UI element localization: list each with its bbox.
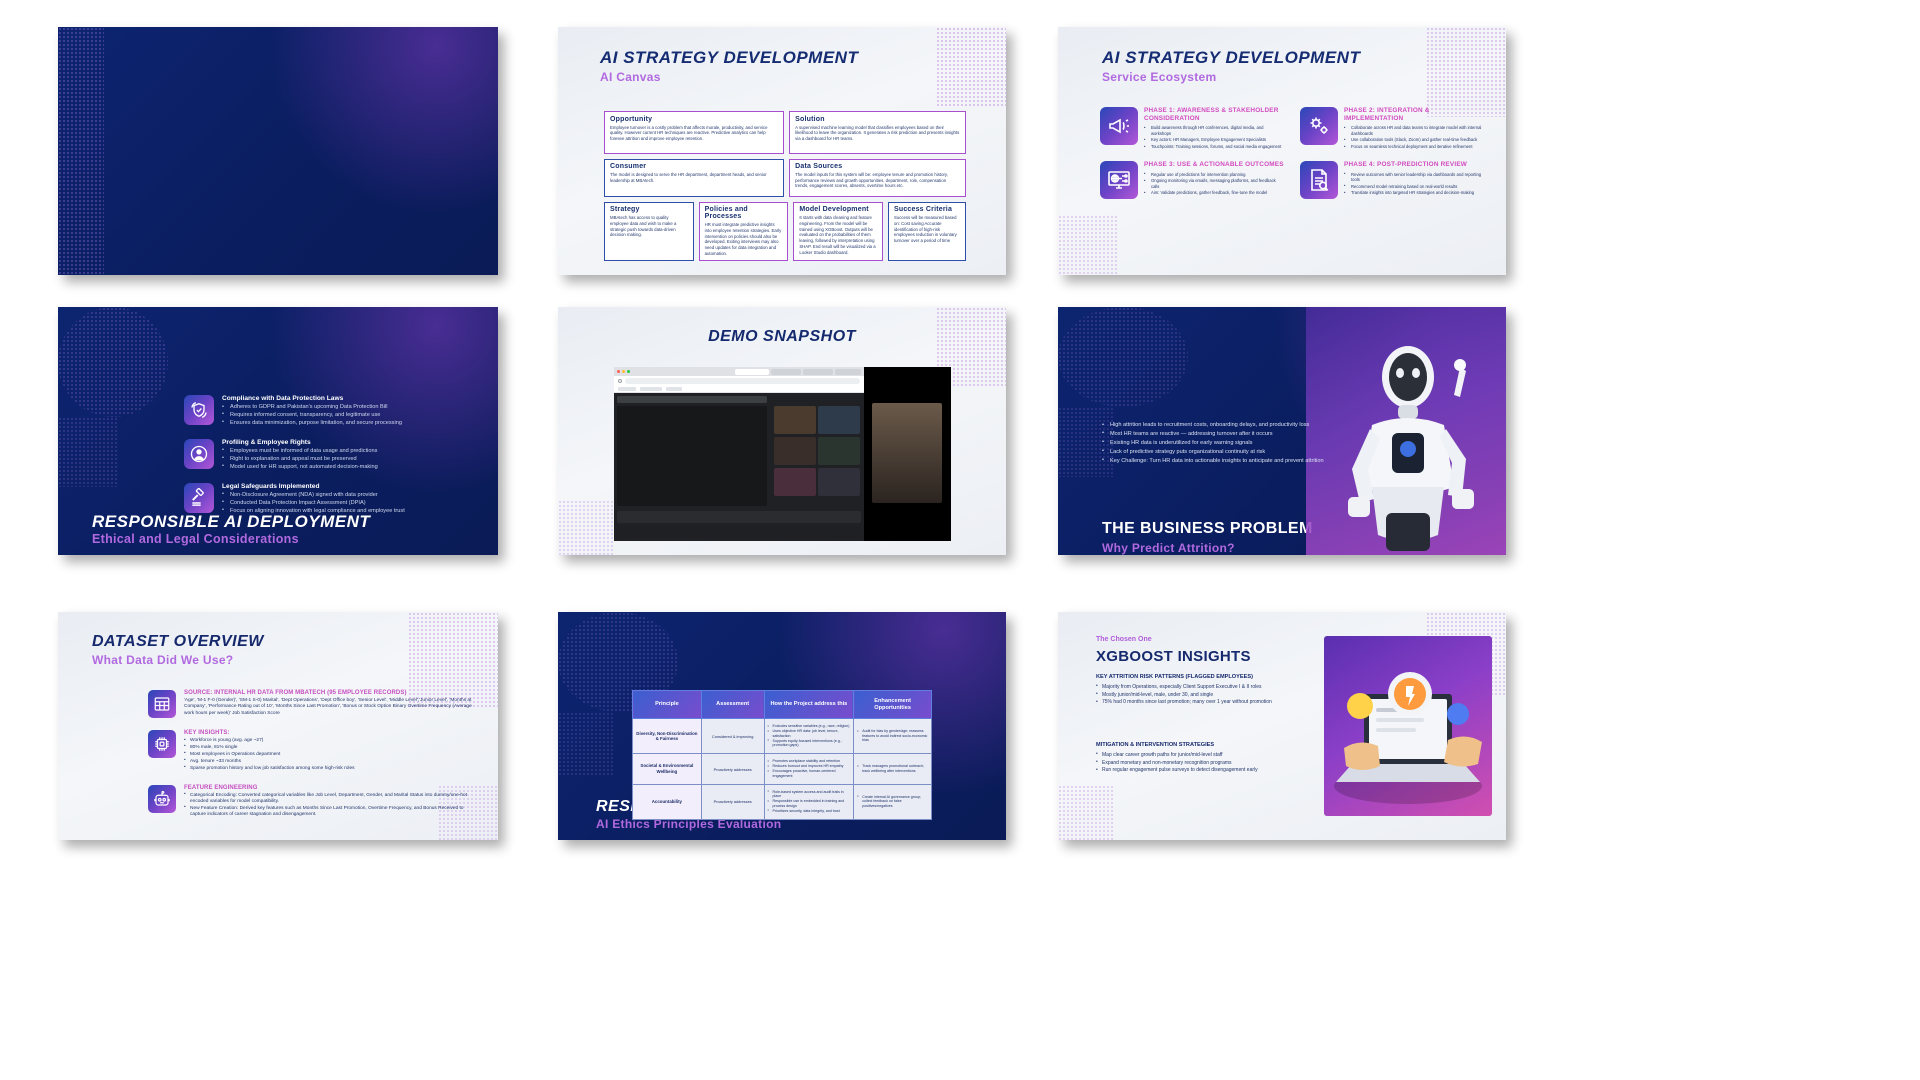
slide3-header: AI STRATEGY DEVELOPMENT Service Ecosyste… (1058, 27, 1506, 84)
item-bullets: Non-Disclosure Agreement (NDA) signed wi… (222, 492, 405, 515)
slide-business-problem[interactable]: THE BUSINESS PROBLEM Why Predict Attriti… (1058, 307, 1506, 555)
box-text: Employee turnover is a costly problem th… (610, 125, 778, 142)
megaphone-icon (1100, 107, 1138, 145)
bullet: Key actors: HR Managers, Employee Engage… (1144, 137, 1284, 142)
cell-assessment: Considered & improving (701, 719, 764, 754)
bullet: Build awareness through HR conferences, … (1144, 125, 1284, 136)
robot-face-icon (148, 785, 176, 813)
bullet: Aim: Validate predictions, gather feedba… (1144, 190, 1284, 195)
phase-3: PHASE 3: USE & ACTIONABLE OUTCOMES Regul… (1100, 161, 1284, 199)
item-source: SOURCE: INTERNAL HR DATA FROM MBATECH (9… (148, 690, 480, 718)
gavel-icon (184, 483, 214, 513)
bullet: Recommend model retraining based on real… (1344, 184, 1484, 189)
item-bullets: Categorical Encoding: Converted categori… (184, 793, 480, 818)
bullet: Non-Disclosure Agreement (NDA) signed wi… (222, 492, 405, 499)
demo-screenshot (614, 367, 951, 541)
bullet: Excludes sensitive variables (e.g., race… (768, 724, 851, 728)
bullet: Responsible use is embedded in training … (768, 799, 851, 808)
item-bullets: Employees must be informed of data usage… (222, 448, 378, 471)
canvas-box-consumer: Consumer The model is designed to serve … (604, 159, 784, 197)
network-monitor-icon (1100, 161, 1138, 199)
phase-1: PHASE 1: AWARENESS & STAKEHOLDER CONSIDE… (1100, 107, 1284, 151)
canvas-box-success-criteria: Success Criteria Success will be measure… (888, 202, 966, 261)
item-heading: FEATURE ENGINEERING (184, 785, 480, 791)
bullet: Adheres to GDPR and Pakistan's upcoming … (222, 404, 402, 411)
item-profiling: Profiling & Employee Rights Employees mu… (184, 439, 472, 472)
bullet: Most employees in Operations department (184, 752, 355, 758)
table-row: Accountability Proactively addresses Rol… (633, 784, 932, 819)
bullet: Run regular engagement pulse surveys to … (1096, 767, 1314, 773)
bullet: Expand monetary and non-monetary recogni… (1096, 760, 1314, 766)
table-row: Societal & Environmental Wellbeing Proac… (633, 754, 932, 784)
page-subtitle: Service Ecosystem (1102, 70, 1506, 84)
canvas-box-opportunity: Opportunity Employee turnover is a costl… (604, 111, 784, 154)
cell-address: Excludes sensitive variables (e.g., race… (764, 719, 854, 754)
box-title: Success Criteria (894, 206, 960, 213)
slide-responsible-ai-legal[interactable]: RESPONSIBLE AI DEPLOYMENT Ethical and Le… (58, 307, 498, 555)
table-header-row: Principle Assessment How the Project add… (633, 691, 932, 719)
bullet: Reduces burnout and improves HR empathy (768, 764, 851, 768)
slide-ethics-principles[interactable]: RESPONSIBLE AI DEPLOYMENT AI Ethics Prin… (558, 612, 1006, 840)
section-bullets: Majority from Operations, especially Cli… (1096, 684, 1314, 706)
bullet: Supports equity-focused interventions (e… (768, 739, 851, 748)
bullet: New Feature Creation: Derived key featur… (184, 806, 480, 818)
section-mitigation: MITIGATION & INTERVENTION STRATEGIES Map… (1096, 742, 1314, 775)
item-text: 'Age', 'M-1 F-0 (Gender)', 'SM-1 S-0) Ma… (184, 698, 480, 717)
cell-principle: Societal & Environmental Wellbeing (633, 754, 702, 784)
box-text: HR must integrate predictive insights in… (705, 222, 783, 256)
bullet: 80% male, 81% single (184, 745, 355, 751)
bullet: Uses objective HR data: job level, tenur… (768, 729, 851, 738)
cell-enhancement: Create internal AI governance group; col… (854, 784, 932, 819)
bullet: Regular use of predictions for intervent… (1144, 172, 1284, 177)
bullet: Right to explanation and appeal must be … (222, 456, 378, 463)
ethics-principles-table: Principle Assessment How the Project add… (632, 690, 932, 820)
chip-insights-icon (148, 730, 176, 758)
box-text: Success will be measured based on: Cost … (894, 215, 960, 244)
bullet: Touchpoints: Training sessions, forums, … (1144, 144, 1284, 149)
slide5-header: DEMO SNAPSHOT (558, 307, 1006, 345)
item-heading: Compliance with Data Protection Laws (222, 395, 402, 402)
page-title: AI STRATEGY DEVELOPMENT (1102, 49, 1506, 66)
bullet: Ensures data minimization, purpose limit… (222, 420, 402, 427)
bullet: Conducted Data Protection Impact Assessm… (222, 500, 405, 507)
bullet: Sparse promotion history and low job sat… (184, 766, 355, 772)
slide-demo-snapshot[interactable]: DEMO SNAPSHOT (558, 307, 1006, 555)
legal-items: Compliance with Data Protection Laws Adh… (184, 395, 472, 516)
box-title: Opportunity (610, 116, 778, 123)
canvas-box-policies: Policies and Processes HR must integrate… (699, 202, 789, 261)
box-text: It starts with data cleaning and feature… (799, 215, 877, 255)
user-profile-icon (184, 439, 214, 469)
phase-heading: PHASE 2: INTEGRATION & IMPLEMENTATION (1344, 107, 1484, 122)
bullet: Audit for bias by gender/age; reassess f… (857, 729, 928, 742)
page-subtitle: Ethical and Legal Considerations (92, 532, 498, 546)
item-heading: SOURCE: INTERNAL HR DATA FROM MBATECH (9… (184, 690, 480, 696)
slide2-header: AI STRATEGY DEVELOPMENT AI Canvas (558, 27, 1006, 84)
cell-address: Role-based system access and audit trail… (764, 784, 854, 819)
slide-dataset-overview[interactable]: DATASET OVERVIEW What Data Did We Use? S… (58, 612, 498, 840)
box-text: The model is designed to serve the HR de… (610, 172, 778, 183)
section-heading: KEY ATTRITION RISK PATTERNS (FLAGGED EMP… (1096, 674, 1314, 681)
bullet: Role-based system access and audit trail… (768, 790, 851, 799)
bullet: Employees must be informed of data usage… (222, 448, 378, 455)
humanoid-robot-image (1312, 337, 1498, 551)
box-title: Policies and Processes (705, 206, 783, 220)
laptop-3d-illustration (1324, 636, 1492, 816)
section-bullets: Map clear career growth paths for junior… (1096, 752, 1314, 774)
shield-check-icon (184, 395, 214, 425)
bullet: Translate insights into targeted HR stra… (1344, 190, 1484, 195)
bullet: Track managers promotional outreach; tra… (857, 764, 928, 773)
box-text: A supervised machine learning model that… (795, 125, 960, 142)
bullet: Prioritizes security, data integrity, an… (768, 809, 851, 813)
box-title: Strategy (610, 206, 688, 213)
item-heading: Profiling & Employee Rights (222, 439, 378, 446)
database-table-icon (148, 690, 176, 718)
phase-bullets: Review outcomes with senior leadership v… (1344, 172, 1484, 196)
item-heading: Legal Safeguards Implemented (222, 483, 405, 490)
bullet: Collaborate across HR and data teams to … (1344, 125, 1484, 136)
phase-heading: PHASE 4: POST-PREDICTION REVIEW (1344, 161, 1484, 169)
item-key-insights: KEY INSIGHTS: Workforce is young (avg. a… (148, 730, 480, 773)
slide-xgboost-insights[interactable]: The Chosen One XGBOOST INSIGHTS KEY ATTR… (1058, 612, 1506, 840)
item-compliance: Compliance with Data Protection Laws Adh… (184, 395, 472, 428)
page-title: XGBOOST INSIGHTS (1096, 648, 1251, 665)
cell-address: Promotes workplace stability and retenti… (764, 754, 854, 784)
box-title: Model Development (799, 206, 877, 213)
item-bullets: Workforce is young (avg. age ~27) 80% ma… (184, 738, 355, 772)
item-bullets: Adheres to GDPR and Pakistan's upcoming … (222, 404, 402, 427)
slide7-header: DATASET OVERVIEW What Data Did We Use? (58, 612, 498, 667)
box-title: Data Sources (795, 163, 960, 170)
col-enhancement: Enhancement Opportunities (854, 691, 932, 719)
cell-principle: Accountability (633, 784, 702, 819)
col-principle: Principle (633, 691, 702, 719)
bullet: Focus on seamless technical deployment a… (1344, 144, 1484, 149)
cell-principle: Diversity, Non-Discrimination & Fairness (633, 719, 702, 754)
slide-ai-canvas[interactable]: AI STRATEGY DEVELOPMENT AI Canvas Opport… (558, 27, 1006, 275)
page-title: DATASET OVERVIEW (92, 634, 498, 650)
phase-bullets: Collaborate across HR and data teams to … (1344, 125, 1484, 149)
bullet: Model used for HR support, not automated… (222, 464, 378, 471)
phases-grid: PHASE 1: AWARENESS & STAKEHOLDER CONSIDE… (1100, 107, 1484, 199)
box-title: Solution (795, 116, 960, 123)
cell-enhancement: Audit for bias by gender/age; reassess f… (854, 719, 932, 754)
phase-heading: PHASE 1: AWARENESS & STAKEHOLDER CONSIDE… (1144, 107, 1284, 122)
page-title: DEMO SNAPSHOT (558, 329, 1006, 345)
section-risk-patterns: KEY ATTRITION RISK PATTERNS (FLAGGED EMP… (1096, 674, 1314, 707)
cell-assessment: Proactively addresses (701, 784, 764, 819)
item-heading: KEY INSIGHTS: (184, 730, 355, 736)
box-text: The model inputs for this system will be… (795, 172, 960, 189)
canvas-box-solution: Solution A supervised machine learning m… (789, 111, 966, 154)
canvas-box-data-sources: Data Sources The model inputs for this s… (789, 159, 966, 197)
bullet: Mostly junior/mid-level, male, under 30,… (1096, 692, 1314, 698)
item-feature-engineering: FEATURE ENGINEERING Categorical Encoding… (148, 785, 480, 819)
canvas-box-strategy: Strategy MBAtech has access to quality e… (604, 202, 694, 261)
slide-service-ecosystem[interactable]: AI STRATEGY DEVELOPMENT Service Ecosyste… (1058, 27, 1506, 275)
page-subtitle: What Data Did We Use? (92, 653, 498, 667)
ai-canvas-grid: Opportunity Employee turnover is a costl… (604, 111, 966, 261)
bullet: Majority from Operations, especially Cli… (1096, 684, 1314, 690)
cell-assessment: Proactively addresses (701, 754, 764, 784)
bullet: Requires informed consent, transparency,… (222, 412, 402, 419)
table-row: Diversity, Non-Discrimination & Fairness… (633, 719, 932, 754)
box-title: Consumer (610, 163, 778, 170)
slide-ai-adoption-plan[interactable]: AI ADOPTION PLAN Making It Stick (58, 27, 498, 275)
bullet: Encourages proactive, human-centered eng… (768, 769, 851, 778)
bullet: Use collaboration tools (Slack, Zoom) an… (1344, 137, 1484, 142)
box-text: MBAtech has access to quality employee d… (610, 215, 688, 238)
bullet: Create internal AI governance group; col… (857, 795, 928, 808)
bullet: 75% had 0 months since last promotion; m… (1096, 699, 1314, 705)
eyebrow-label: The Chosen One (1096, 636, 1152, 643)
bullet: Promotes workplace stability and retenti… (768, 759, 851, 763)
item-legal-safeguards: Legal Safeguards Implemented Non-Disclos… (184, 483, 472, 516)
slide-deck-overview: AI ADOPTION PLAN Making It Stick (0, 0, 1920, 1080)
bullet: Workforce is young (avg. age ~27) (184, 738, 355, 744)
bullet: Map clear career growth paths for junior… (1096, 752, 1314, 758)
bullet: Ongoing monitoring via emails, messaging… (1144, 178, 1284, 189)
bullet: Review outcomes with senior leadership v… (1344, 172, 1484, 183)
phase-bullets: Regular use of predictions for intervent… (1144, 172, 1284, 196)
review-document-icon (1300, 161, 1338, 199)
dataset-items: SOURCE: INTERNAL HR DATA FROM MBATECH (9… (148, 690, 480, 819)
phase-4: PHASE 4: POST-PREDICTION REVIEW Review o… (1300, 161, 1484, 199)
canvas-box-model-development: Model Development It starts with data cl… (793, 202, 883, 261)
cell-enhancement: Track managers promotional outreach; tra… (854, 754, 932, 784)
col-assessment: Assessment (701, 691, 764, 719)
bullet: Avg. tenure ~33 months (184, 759, 355, 765)
phase-bullets: Build awareness through HR conferences, … (1144, 125, 1284, 149)
col-address: How the Project address this (764, 691, 854, 719)
integration-gears-icon (1300, 107, 1338, 145)
phase-heading: PHASE 3: USE & ACTIONABLE OUTCOMES (1144, 161, 1284, 169)
bullet: Focus on aligning innovation with legal … (222, 508, 405, 515)
phase-2: PHASE 2: INTEGRATION & IMPLEMENTATION Co… (1300, 107, 1484, 151)
section-heading: MITIGATION & INTERVENTION STRATEGIES (1096, 742, 1314, 749)
page-title: AI STRATEGY DEVELOPMENT (600, 49, 1006, 66)
bullet: Categorical Encoding: Converted categori… (184, 793, 480, 805)
page-subtitle: AI Canvas (600, 70, 1006, 84)
